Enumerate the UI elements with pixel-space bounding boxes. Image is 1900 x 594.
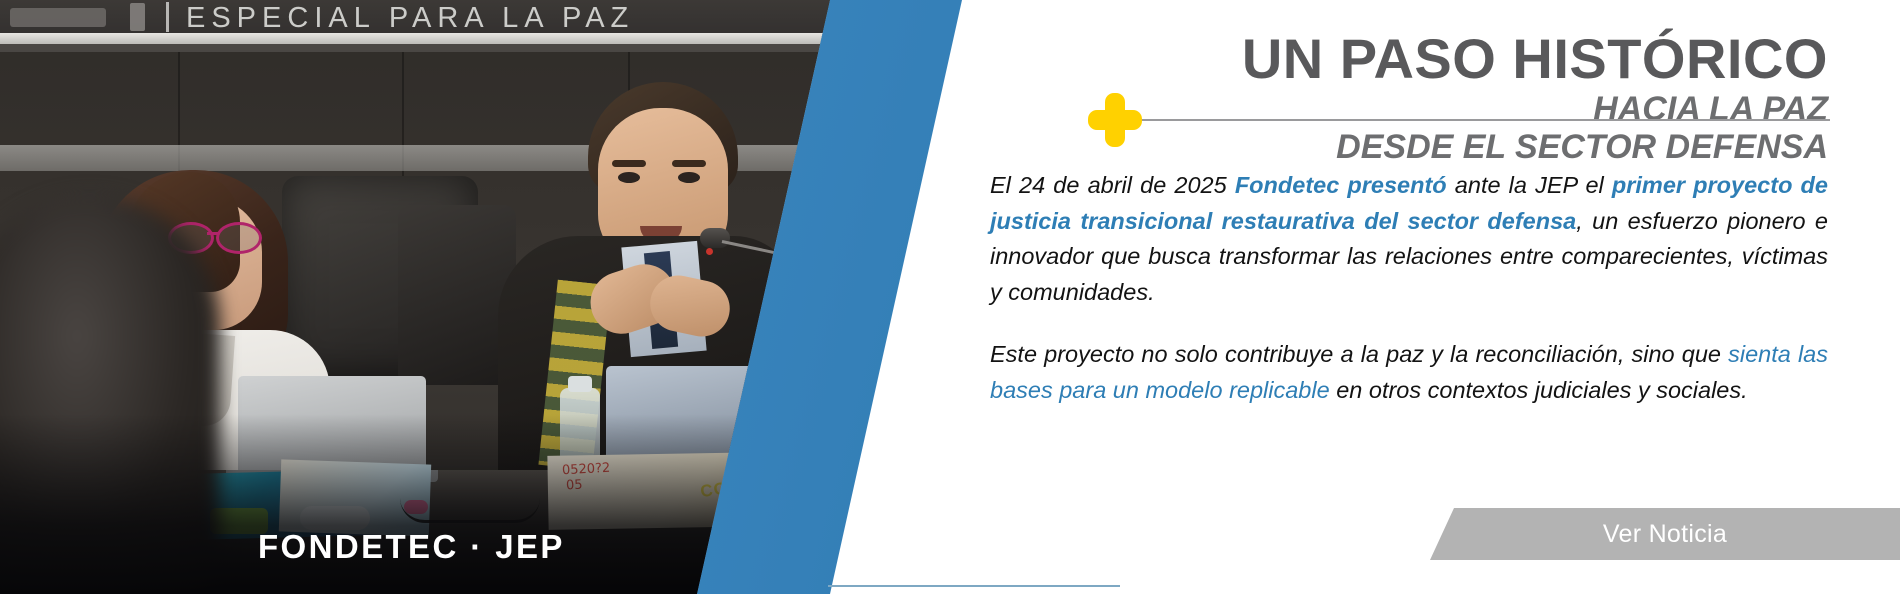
ver-noticia-button[interactable]: Ver Noticia: [1430, 508, 1900, 560]
magistrate-brow-left: [612, 160, 646, 167]
sign-underlight: [0, 33, 960, 44]
paragraph-two-seg1: Este proyecto no solo contribuye a la pa…: [990, 341, 1728, 367]
paragraph-one-highlight-1: Fondetec presentó: [1235, 172, 1447, 198]
paragraph-one-seg1: El 24 de abril de 2025: [990, 172, 1235, 198]
page-title: UN PASO HISTÓRICO: [990, 26, 1828, 91]
water-bottle-cap: [568, 376, 592, 392]
glasses-lens-right: [216, 222, 262, 254]
plus-icon: [1088, 93, 1142, 147]
divider-rule: [1140, 119, 1830, 121]
photo-caption: FONDETEC · JEP: [258, 528, 565, 566]
magistrate-eye-right: [678, 172, 700, 183]
ver-noticia-label: Ver Noticia: [1603, 520, 1727, 549]
bottom-blue-rule: [828, 585, 1120, 587]
content-panel: UN PASO HISTÓRICO HACIA LA PAZ DESDE EL …: [990, 0, 1900, 594]
paragraph-two: Este proyecto no solo contribuye a la pa…: [990, 337, 1828, 408]
sign-logo-bar: [10, 8, 106, 27]
sign-undershadow: [0, 44, 960, 52]
magistrate-eye-left: [618, 172, 640, 183]
microphone-indicator: [706, 248, 713, 255]
paragraph-two-seg2: en otros contextos judiciales y sociales…: [1330, 377, 1748, 403]
sign-divider: [166, 2, 169, 32]
magistrate-brow-right: [672, 160, 706, 167]
sign-text: ESPECIAL PARA LA PAZ: [186, 2, 634, 35]
body-text: El 24 de abril de 2025 Fondetec presentó…: [990, 168, 1828, 408]
plus-icon-vertical: [1105, 93, 1125, 147]
courtroom-sign: ESPECIAL PARA LA PAZ: [0, 0, 960, 33]
paragraph-one: El 24 de abril de 2025 Fondetec presentó…: [990, 168, 1828, 311]
promo-banner: ESPECIAL PARA LA PAZ: [0, 0, 1900, 594]
microphone-head: [700, 228, 730, 248]
sign-logo-tick: [130, 3, 145, 31]
paragraph-one-seg2: ante la JEP el: [1447, 172, 1612, 198]
glasses-bridge: [207, 232, 218, 235]
